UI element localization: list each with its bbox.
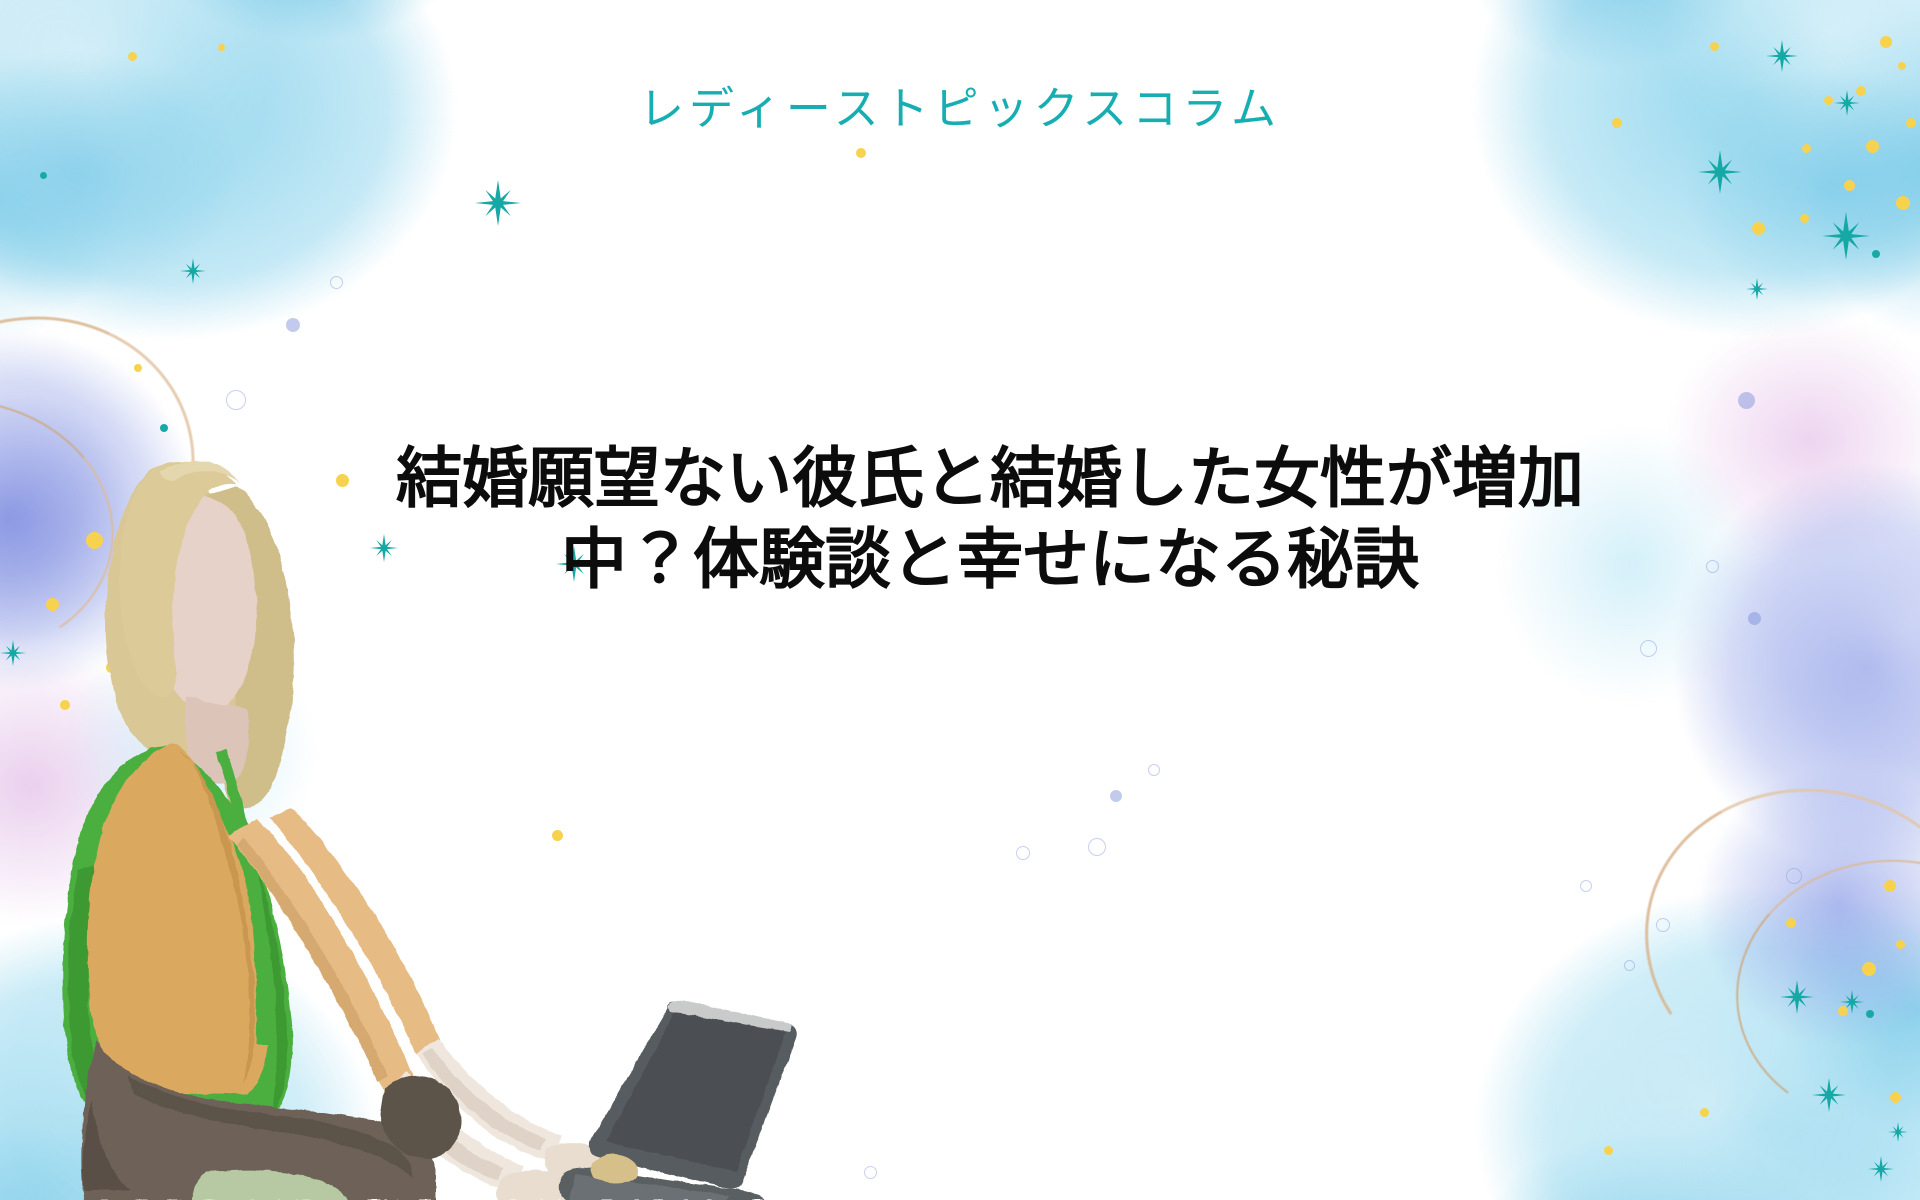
- periwinkle-ring: [1624, 960, 1635, 971]
- gold-dot: [1896, 940, 1905, 949]
- right-periwinkle-blob: [1640, 430, 1920, 900]
- laptop-keyboard: [570, 1174, 730, 1200]
- sparkle-star-icon: [475, 180, 521, 226]
- teal-dot: [1866, 1010, 1874, 1018]
- forearm-front: [386, 1070, 524, 1190]
- sparkle-star-icon: [180, 258, 206, 284]
- gold-dot: [1898, 62, 1906, 70]
- gold-dot: [196, 582, 210, 596]
- bottom-right-cyan-wash: [1420, 840, 1920, 1200]
- teal-dot: [1872, 250, 1880, 258]
- teal-dot: [160, 424, 168, 432]
- sparkle-star-icon: [1766, 40, 1798, 72]
- hair-right-lock: [206, 486, 294, 809]
- hand-left: [496, 1170, 580, 1200]
- pants: [81, 1040, 436, 1200]
- upper-arm-shadow: [236, 838, 388, 1082]
- periwinkle-ring: [1656, 918, 1670, 932]
- mustard-shirt: [87, 744, 269, 1094]
- upper-arm: [228, 818, 414, 1096]
- periwinkle-ring: [1786, 868, 1802, 884]
- sparkle-star-icon: [1780, 980, 1814, 1014]
- periwinkle-ring: [1640, 640, 1657, 657]
- main-title-container: 結婚願望ない彼氏と結婚した女性が増加中？体験談と幸せになる秘訣: [340, 438, 1640, 599]
- gold-dot: [94, 920, 103, 929]
- left-periwinkle-blob-2: [0, 370, 160, 670]
- green-tank-shadow-right: [250, 852, 287, 1114]
- forearm-back: [416, 1038, 562, 1160]
- periwinkle-ring: [1148, 764, 1160, 776]
- upper-arm-2: [270, 808, 440, 1054]
- laptop-screen-top-edge: [668, 1001, 792, 1032]
- gold-dot: [1896, 196, 1910, 210]
- periwinkle-ring: [864, 1166, 877, 1179]
- gold-dot: [134, 364, 142, 372]
- gold-dot: [244, 614, 253, 623]
- periwinkle-ring: [330, 276, 343, 289]
- right-lilac-blob: [1640, 290, 1920, 590]
- left-icy-blue-blob: [40, 600, 340, 900]
- gold-dot: [140, 948, 148, 956]
- green-tank-shadow: [68, 864, 104, 1116]
- periwinkle-ring: [1016, 846, 1030, 860]
- poster-canvas: レディーストピックスコラム: [0, 0, 1920, 1200]
- periwinkle-ring: [702, 1150, 718, 1166]
- gold-dot: [1890, 1092, 1901, 1103]
- periwinkle-bubble: [286, 318, 300, 332]
- green-tank-top: [63, 746, 293, 1122]
- periwinkle-bubble: [1738, 392, 1755, 409]
- sparkle-star-icon: [1698, 150, 1742, 194]
- sparkle-star-icon: [108, 1158, 142, 1192]
- laptop-screen-inner: [606, 1010, 786, 1172]
- hair-back: [105, 465, 255, 759]
- gold-dot: [86, 532, 103, 549]
- site-category-title: レディーストピックスコラム: [639, 72, 1281, 137]
- article-title: 結婚願望ない彼氏と結婚した女性が増加中？体験談と幸せになる秘訣: [340, 438, 1640, 599]
- sparkle-star-icon: [0, 640, 26, 666]
- periwinkle-bubble: [144, 700, 160, 716]
- teal-dot: [136, 628, 143, 635]
- forearm-front-shadow: [390, 1086, 504, 1180]
- gold-dot: [1752, 222, 1765, 235]
- gold-dot: [1700, 1108, 1709, 1117]
- sparkle-star-icon: [1868, 1156, 1894, 1182]
- gold-glitter-arc-right-2: [1723, 845, 1920, 1139]
- pants-shadow: [82, 1100, 130, 1190]
- shoe: [192, 1170, 348, 1200]
- gold-dot: [1884, 880, 1896, 892]
- gold-dot: [1802, 144, 1811, 153]
- sparkle-star-icon: [1812, 1078, 1846, 1112]
- gold-dot: [128, 52, 137, 61]
- gold-dot: [60, 700, 70, 710]
- gold-glitter-arc-left-1: [0, 274, 235, 669]
- gold-dot: [152, 676, 160, 684]
- gold-dot: [218, 44, 225, 51]
- green-strap: [216, 750, 273, 1044]
- gold-dot: [1604, 1146, 1613, 1155]
- periwinkle-ring: [1706, 560, 1719, 573]
- sparkle-star-icon: [150, 760, 170, 780]
- gold-dot: [1786, 918, 1796, 928]
- sparkle-star-icon: [1840, 990, 1864, 1014]
- header: レディーストピックスコラム: [0, 72, 1920, 137]
- pants-fold: [128, 1076, 414, 1178]
- knee: [380, 1076, 461, 1159]
- gold-glitter-arc-left-2: [0, 380, 130, 674]
- gold-dot: [1866, 140, 1879, 153]
- periwinkle-ring: [1580, 880, 1592, 892]
- gold-dot: [106, 662, 117, 673]
- sparkle-star-icon: [1822, 212, 1870, 260]
- gold-dot: [1844, 180, 1855, 191]
- neck: [185, 696, 248, 784]
- periwinkle-bubble: [1110, 790, 1122, 802]
- gold-glitter-arc-right-1: [1612, 753, 1920, 1134]
- tan-object: [591, 1154, 638, 1183]
- sparkle-star-icon: [1746, 278, 1768, 300]
- right-periwinkle-blob-2: [1670, 740, 1920, 1070]
- hair-front-sweep: [119, 461, 236, 697]
- gold-dot: [1880, 36, 1892, 48]
- periwinkle-ring: [226, 390, 246, 410]
- periwinkle-ring: [96, 820, 111, 835]
- laptop-base: [559, 1168, 764, 1200]
- teal-dot: [40, 172, 47, 179]
- periwinkle-bubble: [1748, 612, 1761, 625]
- laptop-screen: [589, 1001, 797, 1188]
- gold-dot: [552, 830, 563, 841]
- top-right-cyan-wash: [1410, 0, 1920, 390]
- left-periwinkle-blob: [0, 300, 230, 720]
- gold-dot: [1710, 42, 1719, 51]
- left-lilac-blob: [0, 620, 210, 950]
- hair-highlight: [160, 461, 240, 482]
- face: [150, 494, 256, 712]
- hand-right: [544, 1143, 623, 1190]
- top-left-cyan-wash: [0, 0, 520, 390]
- decorative-background: [0, 0, 1920, 1200]
- top-left-cyan-wash-2: [0, 20, 320, 360]
- mustard-shirt-shadow: [178, 750, 255, 1084]
- sparkle-star-icon: [1888, 1122, 1908, 1142]
- gold-dot: [46, 598, 59, 611]
- gold-dot: [1800, 214, 1809, 223]
- periwinkle-ring: [1088, 838, 1106, 856]
- bottom-left-cyan-wash: [0, 870, 430, 1200]
- gold-dot: [1862, 962, 1876, 976]
- gold-dot: [856, 148, 866, 158]
- forearm-back-shadow: [422, 1048, 546, 1150]
- gold-dot: [1838, 1006, 1848, 1016]
